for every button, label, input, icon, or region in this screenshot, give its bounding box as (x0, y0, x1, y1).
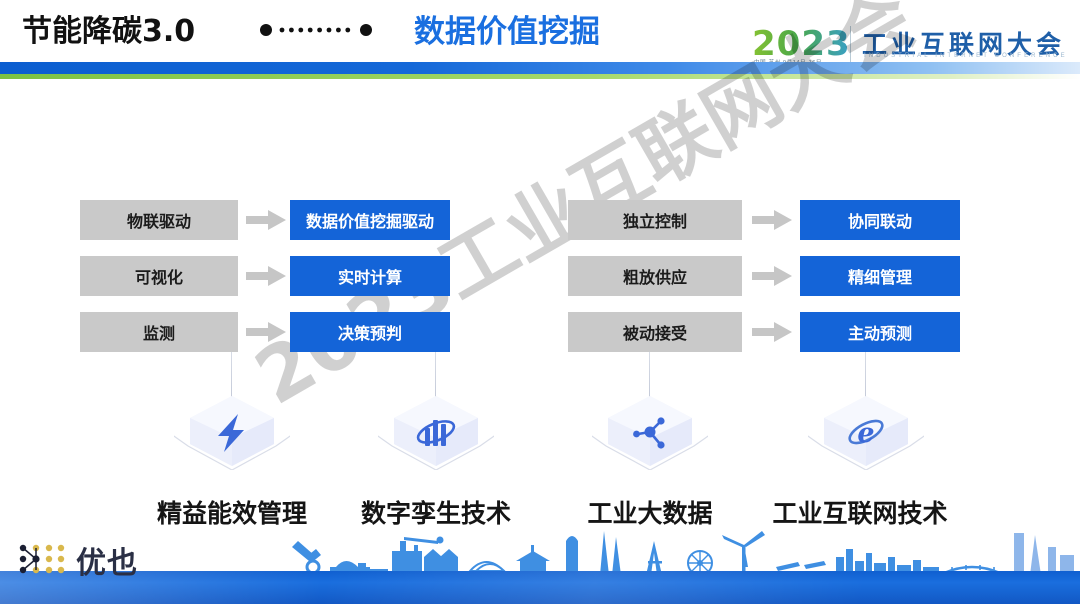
arrow-right-icon (246, 320, 286, 344)
dot-matrix-logo-icon (18, 542, 70, 576)
header-blue-band (0, 62, 1080, 74)
flow-row: 监测 决策预判 (80, 312, 480, 352)
flow-from-box[interactable]: 独立控制 (568, 200, 742, 240)
pillar-label: 精益能效管理 (122, 494, 342, 530)
pillar-label: 工业大数据 (540, 494, 760, 530)
flow-row: 粗放供应 精细管理 (568, 256, 960, 296)
flow-from-box[interactable]: 物联驱动 (80, 200, 238, 240)
pillar-digital-twin (356, 352, 516, 472)
flow-row: 独立控制 协同联动 (568, 200, 960, 240)
flow-to-box[interactable]: 数据价值挖掘驱动 (290, 200, 450, 240)
hexagon-cube: e (808, 388, 924, 470)
header-green-band (0, 74, 1080, 79)
flow-to-box[interactable]: 主动预测 (800, 312, 960, 352)
brand-logo: 优也 (18, 542, 158, 578)
brand-name: 优也 (76, 538, 138, 582)
flow-to-box[interactable]: 精细管理 (800, 256, 960, 296)
industrial-city-skyline-icon (0, 527, 1080, 575)
flow-row: 可视化 实时计算 (80, 256, 480, 296)
pillar-industrial-bigdata (570, 352, 730, 472)
slide-footer (0, 527, 1080, 604)
hexagon-cube (378, 388, 494, 470)
flow-to-box[interactable]: 协同联动 (800, 200, 960, 240)
flow-from-box[interactable]: 粗放供应 (568, 256, 742, 296)
flow-row: 物联驱动 数据价值挖掘驱动 (80, 200, 480, 240)
conference-name-english: INDUSTRIAL INTERNET CONFERENCE (864, 53, 1068, 59)
pillar-industrial-internet: e (786, 352, 946, 472)
pillar-lean-energy (152, 352, 312, 472)
arrow-right-icon (752, 264, 792, 288)
pillar-label: 数字孪生技术 (326, 494, 546, 530)
arrow-right-icon (752, 320, 792, 344)
flow-to-box[interactable]: 决策预判 (290, 312, 450, 352)
flow-from-box[interactable]: 被动接受 (568, 312, 742, 352)
arrow-right-icon (246, 264, 286, 288)
arrow-right-icon (752, 208, 792, 232)
hexagon-cube (174, 388, 290, 470)
slide-canvas: 节能降碳3.0 数据价值挖掘 2023 中国·苏州 9月14日-16日 工业互联… (0, 0, 1080, 604)
flow-from-box[interactable]: 监测 (80, 312, 238, 352)
flow-from-box[interactable]: 可视化 (80, 256, 238, 296)
page-title: 节能降碳3.0 (22, 6, 195, 50)
dotted-connector-icon (260, 24, 378, 36)
arrow-right-icon (246, 208, 286, 232)
section-title: 数据价值挖掘 (414, 6, 600, 51)
pillar-label: 工业互联网技术 (750, 494, 970, 530)
flow-row: 被动接受 主动预测 (568, 312, 960, 352)
slide-header: 节能降碳3.0 数据价值挖掘 2023 中国·苏州 9月14日-16日 工业互联… (0, 0, 1080, 60)
footer-band-shine (0, 571, 1080, 604)
flow-to-box[interactable]: 实时计算 (290, 256, 450, 296)
hexagon-cube (592, 388, 708, 470)
svg-text:e: e (857, 418, 874, 449)
